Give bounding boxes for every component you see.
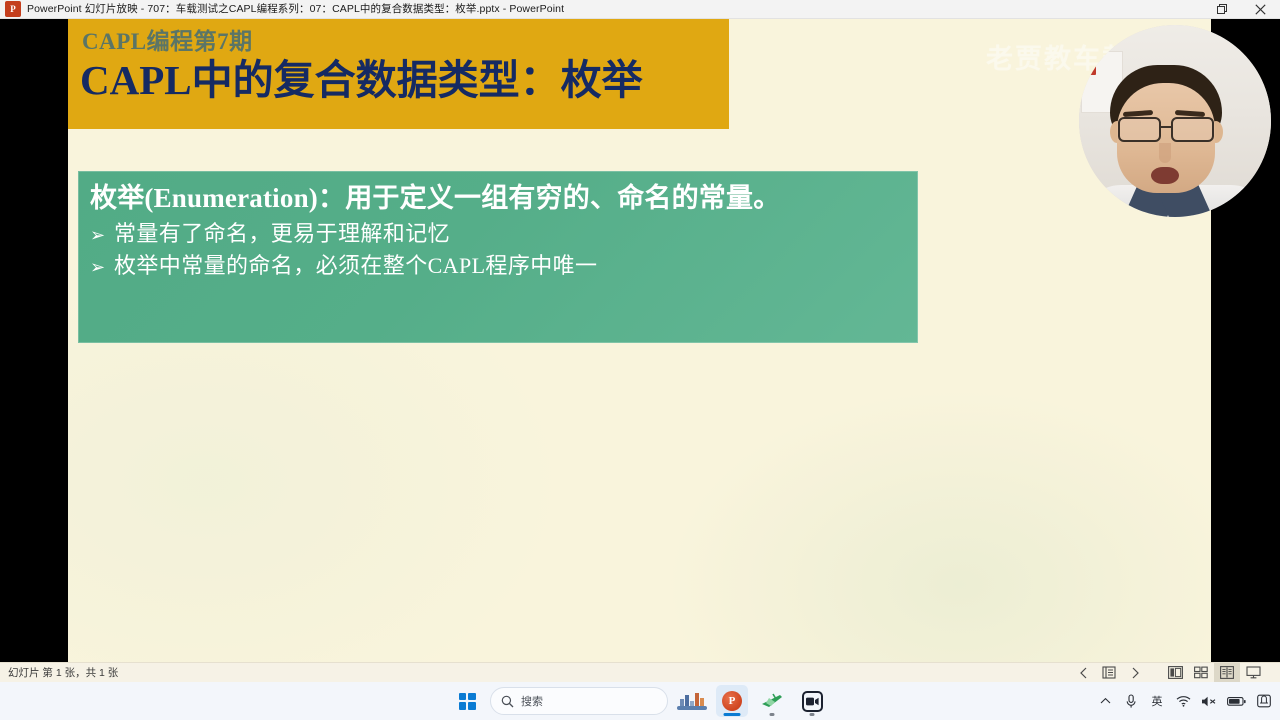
windows-taskbar: 搜索 P xyxy=(0,682,1280,720)
notification-icon[interactable] xyxy=(1252,686,1276,716)
bullet-arrow-icon: ➢ xyxy=(90,223,114,249)
taskbar-app-weather[interactable] xyxy=(676,685,708,717)
speaker-muted-icon[interactable] xyxy=(1197,686,1221,716)
battery-icon[interactable] xyxy=(1223,686,1250,716)
content-bullet-1-text: 常量有了命名，更易于理解和记忆 xyxy=(114,218,450,249)
slide-sorter-view-button[interactable] xyxy=(1188,663,1214,683)
start-button[interactable] xyxy=(452,686,482,716)
slide-surface[interactable]: CAPL编程第7期 CAPL中的复合数据类型：枚举 枚举(Enumeration… xyxy=(68,19,1211,662)
slide-navigation-group xyxy=(1070,663,1148,683)
content-heading: 枚举(Enumeration)：用于定义一组有穷的、命名的常量。 xyxy=(90,181,906,217)
powerpoint-icon: P xyxy=(5,1,21,17)
glasses-bridge xyxy=(1161,126,1173,128)
next-slide-button[interactable] xyxy=(1122,663,1148,683)
wifi-icon[interactable] xyxy=(1171,686,1195,716)
show-hidden-icons-icon[interactable] xyxy=(1093,686,1117,716)
content-bullet-2: ➢ 枚举中常量的命名，必须在整个CAPL程序中唯一 xyxy=(90,250,906,281)
screen: P PowerPoint 幻灯片放映 - 707：车载测试之CAPL编程系列：0… xyxy=(0,0,1280,720)
presenter-mouth xyxy=(1151,167,1179,184)
view-mode-group xyxy=(1162,663,1266,683)
presenter-nose xyxy=(1159,143,1171,163)
taskbar-app-plane[interactable] xyxy=(756,685,788,717)
open-app-indicator xyxy=(770,713,775,716)
background-red-mark xyxy=(1087,63,1096,75)
powerpoint-taskbar-icon: P xyxy=(722,691,742,711)
status-bar: 幻灯片 第 1 张，共 1 张 xyxy=(0,662,1280,682)
taskbar-app-powerpoint[interactable]: P xyxy=(716,685,748,717)
open-app-indicator xyxy=(810,713,815,716)
bullet-arrow-icon: ➢ xyxy=(90,255,114,281)
previous-slide-button[interactable] xyxy=(1070,663,1096,683)
window-titlebar: P PowerPoint 幻灯片放映 - 707：车载测试之CAPL编程系列：0… xyxy=(0,0,1280,19)
search-input[interactable]: 搜索 xyxy=(490,687,668,715)
taskbar-app-recorder[interactable] xyxy=(796,685,828,717)
search-icon xyxy=(501,695,514,708)
slide-counter: 幻灯片 第 1 张，共 1 张 xyxy=(8,665,118,680)
normal-view-button[interactable] xyxy=(1162,663,1188,683)
window-controls xyxy=(1204,0,1280,19)
content-bullet-2-text: 枚举中常量的命名，必须在整个CAPL程序中唯一 xyxy=(114,250,597,281)
search-placeholder-text: 搜索 xyxy=(521,693,543,709)
glasses-lens-right xyxy=(1171,117,1214,142)
slide-content-box: 枚举(Enumeration)：用于定义一组有穷的、命名的常量。 ➢ 常量有了命… xyxy=(78,171,918,343)
restore-button[interactable] xyxy=(1204,0,1240,19)
presenter-glasses xyxy=(1115,117,1219,143)
slide-banner-subtitle: CAPL编程第7期 xyxy=(82,29,729,54)
active-app-indicator xyxy=(724,713,741,716)
ime-language-icon[interactable]: 英 xyxy=(1145,686,1169,716)
reading-view-button[interactable] xyxy=(1214,663,1240,683)
powerpoint-icon-letter: P xyxy=(10,5,16,14)
presenter-video-frame xyxy=(1079,25,1271,217)
windows-logo-icon xyxy=(459,693,476,710)
slide-show-view-button[interactable] xyxy=(1240,663,1266,683)
slide-title-banner: CAPL编程第7期 CAPL中的复合数据类型：枚举 xyxy=(68,19,729,129)
close-button[interactable] xyxy=(1240,0,1280,19)
page-title: CAPL中的复合数据类型：枚举 xyxy=(80,55,729,106)
slideshow-canvas[interactable]: CAPL编程第7期 CAPL中的复合数据类型：枚举 枚举(Enumeration… xyxy=(0,19,1280,662)
window-title: PowerPoint 幻灯片放映 - 707：车载测试之CAPL编程系列：07：… xyxy=(27,0,564,19)
system-tray: 英 xyxy=(1093,682,1276,720)
glasses-lens-left xyxy=(1118,117,1161,142)
presenter-video-bubble[interactable] xyxy=(1079,25,1271,217)
screen-recorder-icon xyxy=(802,691,823,712)
content-bullet-1: ➢ 常量有了命名，更易于理解和记忆 xyxy=(90,218,906,249)
taskbar-center-group: 搜索 P xyxy=(0,682,1280,720)
microphone-icon[interactable] xyxy=(1119,686,1143,716)
slideshow-menu-button[interactable] xyxy=(1096,663,1122,683)
